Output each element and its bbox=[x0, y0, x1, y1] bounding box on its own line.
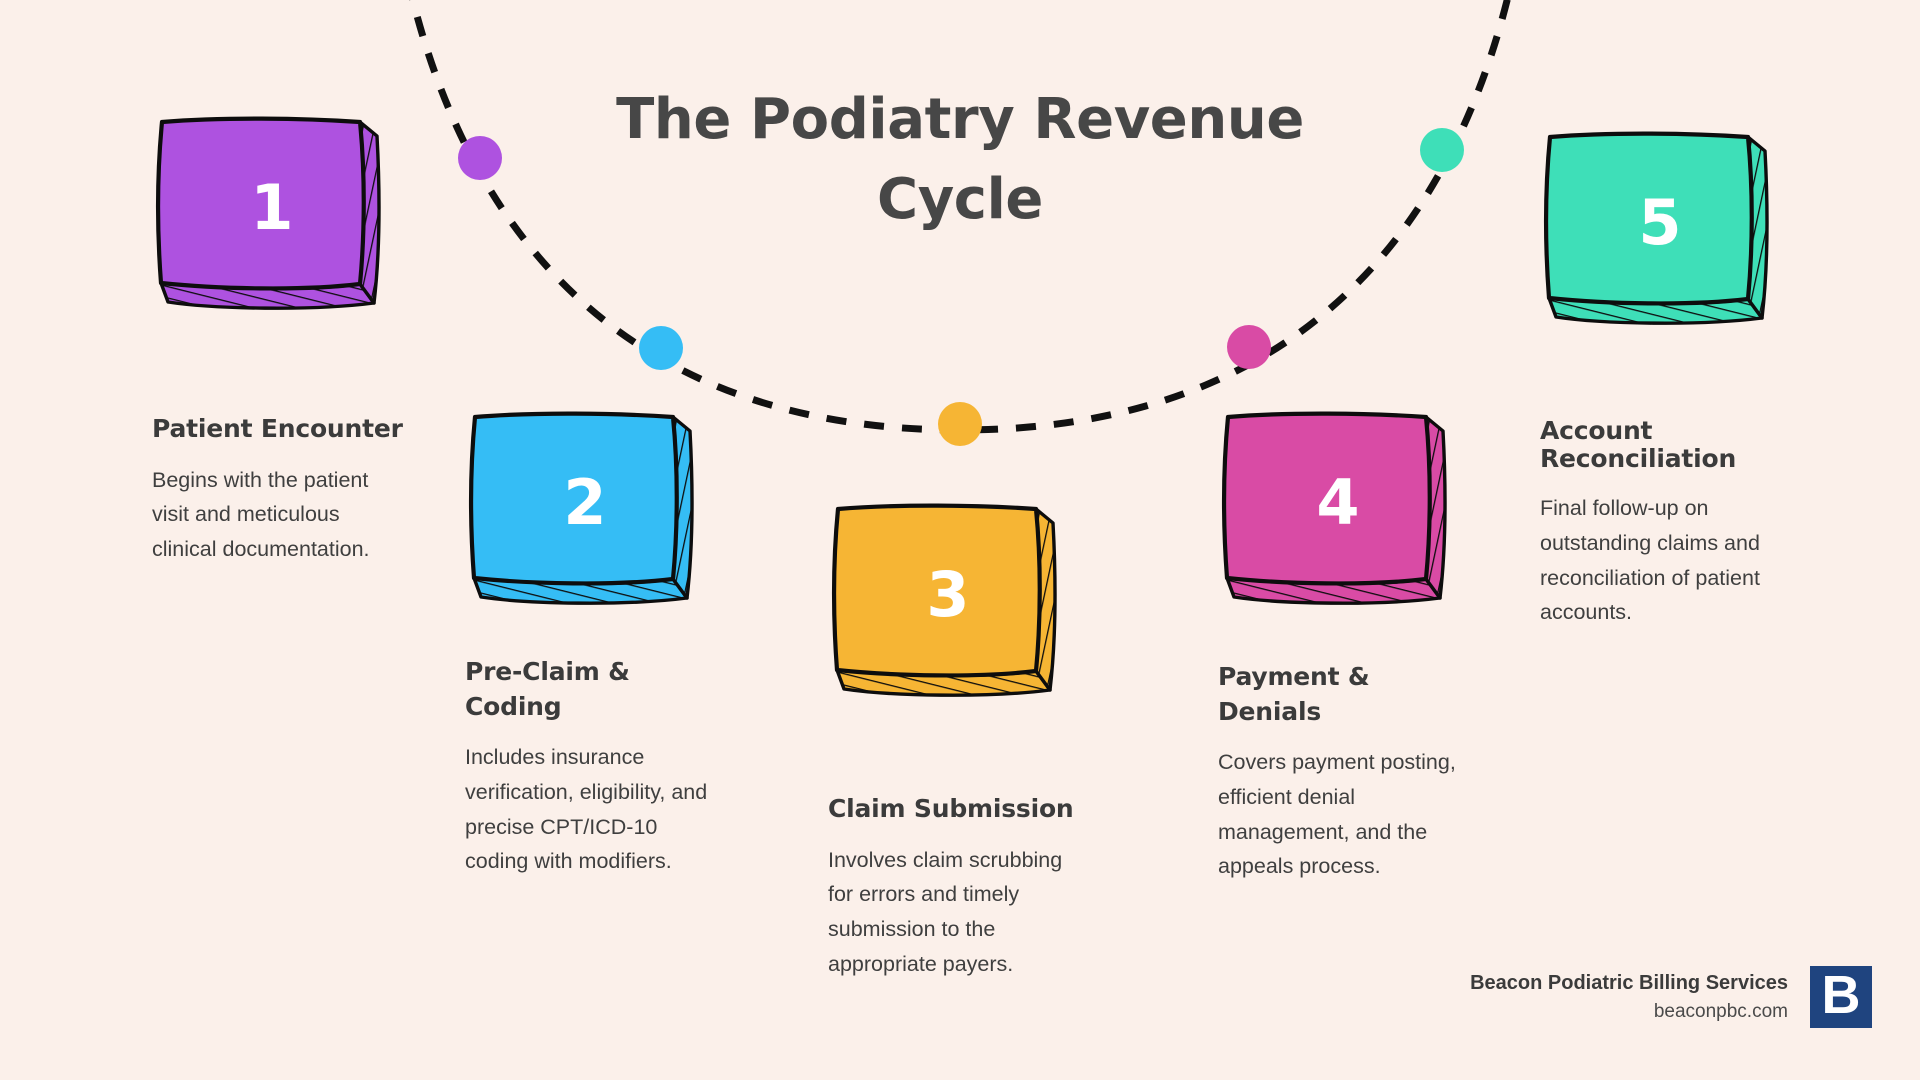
step-4: 4 Payment & Denials Covers payment posti… bbox=[1218, 407, 1518, 884]
footer-branding: Beacon Podiatric Billing Services beacon… bbox=[1470, 966, 1872, 1028]
revenue-cycle-infographic: The Podiatry Revenue Cycle 1 Patient Enc… bbox=[0, 0, 1920, 1080]
milestone-dot-2 bbox=[639, 326, 683, 370]
footer-text: Beacon Podiatric Billing Services beacon… bbox=[1470, 968, 1788, 1027]
step-heading-3: Claim Submission bbox=[828, 792, 1086, 827]
step-text-5: Account Reconciliation Final follow-up o… bbox=[1540, 417, 1798, 630]
step-2: 2 Pre-Claim & Coding Includes insurance … bbox=[465, 407, 765, 879]
step-heading-5: Account Reconciliation bbox=[1540, 417, 1798, 473]
step-body-1: Begins with the patient visit and meticu… bbox=[152, 463, 410, 567]
milestone-dot-5 bbox=[1420, 128, 1464, 172]
step-text-2: Pre-Claim & Coding Includes insurance ve… bbox=[465, 655, 723, 879]
title-line-1: The Podiatry Revenue bbox=[610, 80, 1310, 160]
milestone-dot-1 bbox=[458, 136, 502, 180]
company-website[interactable]: beaconpbc.com bbox=[1470, 998, 1788, 1027]
title-line-2: Cycle bbox=[610, 160, 1310, 240]
step-card-1[interactable]: 1 bbox=[152, 112, 407, 320]
step-text-1: Patient Encounter Begins with the patien… bbox=[152, 412, 410, 567]
milestone-dot-4 bbox=[1227, 325, 1271, 369]
step-heading-1: Patient Encounter bbox=[152, 412, 410, 447]
step-text-3: Claim Submission Involves claim scrubbin… bbox=[828, 792, 1086, 982]
step-1: 1 Patient Encounter Begins with the pati… bbox=[152, 112, 452, 567]
step-card-3[interactable]: 3 bbox=[828, 499, 1083, 707]
step-3: 3 Claim Submission Involves claim scrubb… bbox=[828, 499, 1128, 982]
step-body-3: Involves claim scrubbing for errors and … bbox=[828, 843, 1086, 982]
step-heading-4: Payment & Denials bbox=[1218, 660, 1476, 729]
card-shape-3 bbox=[828, 499, 1083, 707]
card-shape-2 bbox=[465, 407, 720, 615]
step-body-4: Covers payment posting, efficient denial… bbox=[1218, 745, 1476, 884]
step-body-5: Final follow-up on outstanding claims an… bbox=[1540, 491, 1798, 630]
step-5: 5 Account Reconciliation Final follow-up… bbox=[1540, 127, 1840, 630]
page-title: The Podiatry Revenue Cycle bbox=[610, 80, 1310, 239]
beacon-logo-icon: B bbox=[1810, 966, 1872, 1028]
step-card-5[interactable]: 5 bbox=[1540, 127, 1795, 335]
card-shape-1 bbox=[152, 112, 407, 320]
step-card-2[interactable]: 2 bbox=[465, 407, 720, 615]
card-shape-4 bbox=[1218, 407, 1473, 615]
step-heading-2: Pre-Claim & Coding bbox=[465, 655, 723, 724]
company-name: Beacon Podiatric Billing Services bbox=[1470, 968, 1788, 998]
step-card-4[interactable]: 4 bbox=[1218, 407, 1473, 615]
step-body-2: Includes insurance verification, eligibi… bbox=[465, 740, 723, 879]
card-shape-5 bbox=[1540, 127, 1795, 335]
milestone-dot-3 bbox=[938, 402, 982, 446]
step-text-4: Payment & Denials Covers payment posting… bbox=[1218, 660, 1476, 884]
